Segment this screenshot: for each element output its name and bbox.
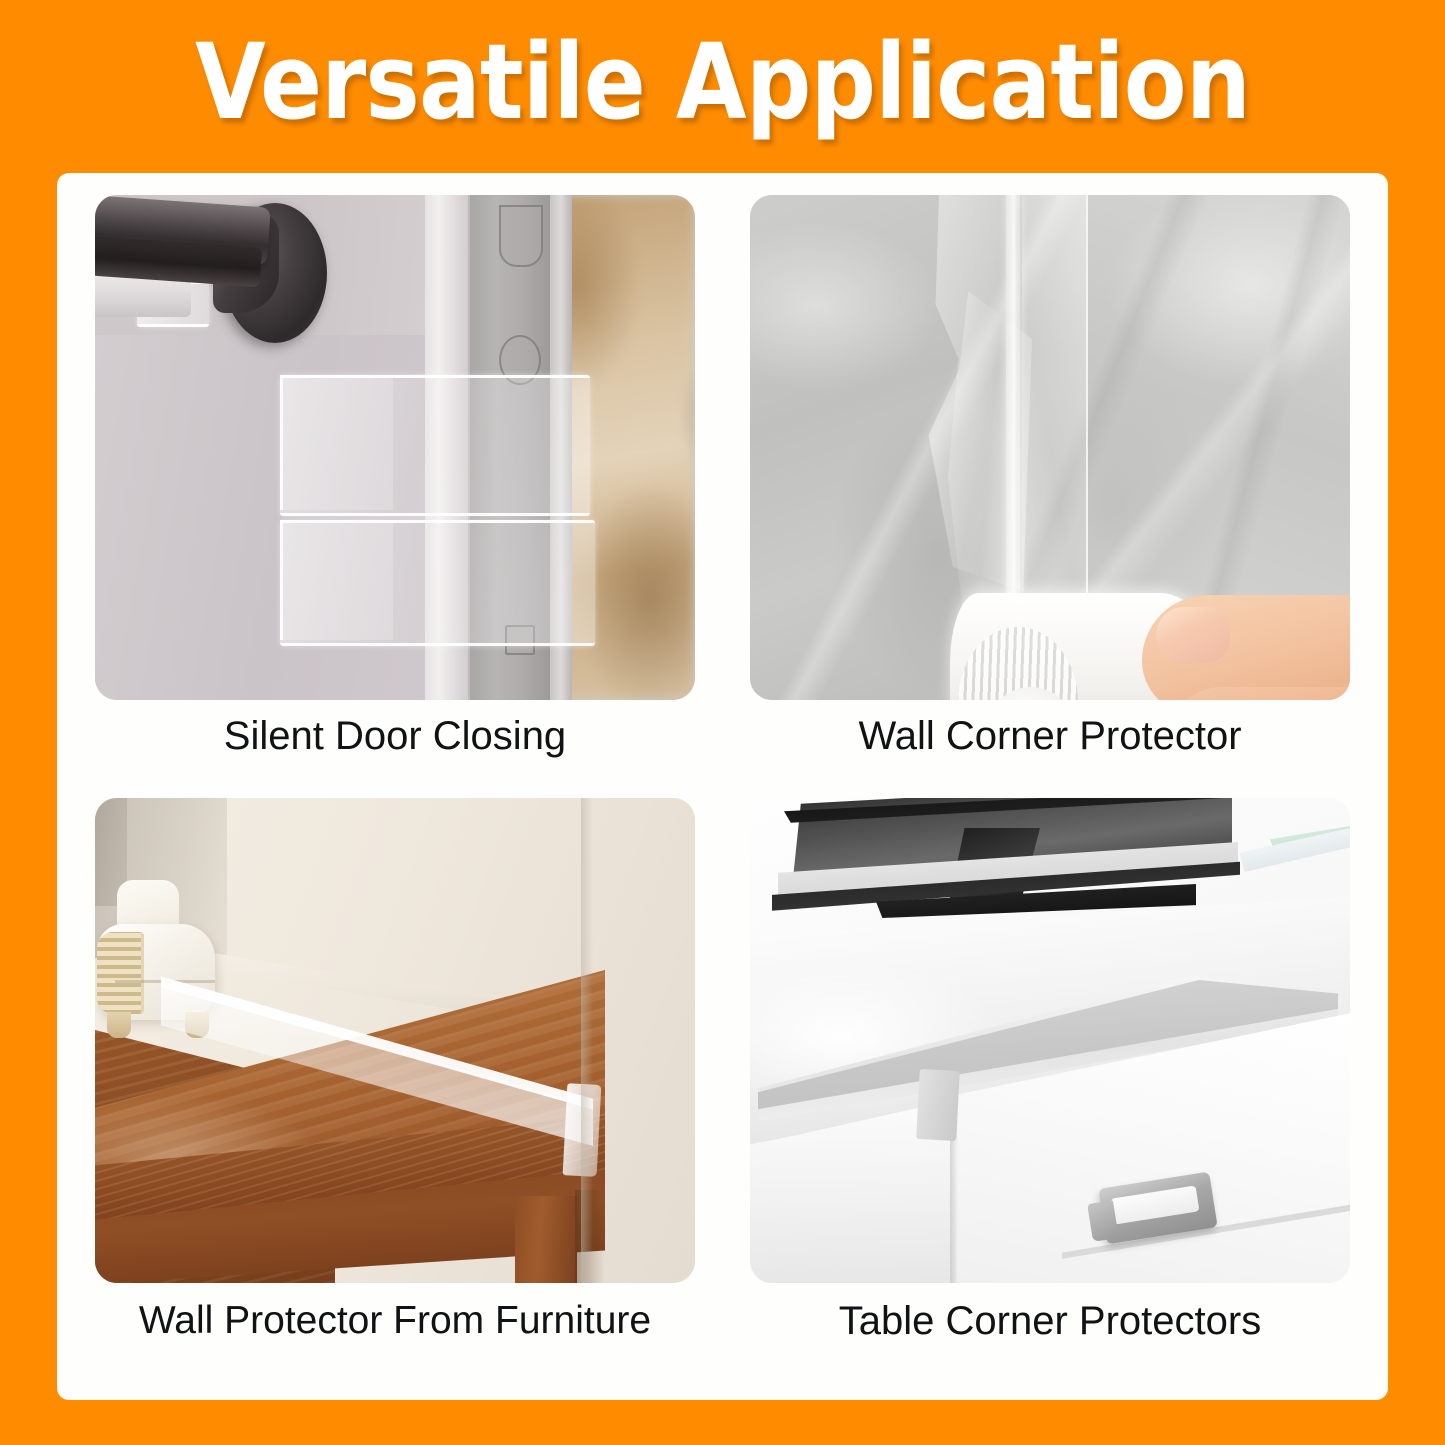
photo-silent-door-closing: [95, 195, 695, 700]
fingernail: [1156, 607, 1230, 663]
corner-protector-face: [280, 375, 393, 510]
table-leg: [515, 1196, 577, 1283]
edge-protector-strip-end-cap: [916, 1069, 960, 1141]
photo-wall-protector-from-furniture: [95, 798, 695, 1283]
corner-protector-face: [280, 520, 393, 640]
wall-edge-shadow: [581, 798, 593, 1283]
caption-wall-protector-from-furniture: Wall Protector From Furniture: [95, 1295, 695, 1347]
page-title: Versatile Application: [87, 26, 1359, 138]
caption-silent-door-closing: Silent Door Closing: [95, 710, 695, 762]
feature-cell-table-corner-protectors: Table Corner Protectors: [750, 798, 1350, 1378]
feature-cell-silent-door-closing: Silent Door Closing: [95, 195, 695, 780]
speaker-grille: [97, 932, 144, 1014]
speaker-leg: [107, 1012, 131, 1038]
feature-cell-wall-protector-from-furniture: Wall Protector From Furniture: [95, 798, 695, 1378]
panel-card: Silent Door Closing Wall Corner Protec: [57, 173, 1388, 1400]
feature-cell-wall-corner-protector: Wall Corner Protector: [750, 195, 1350, 780]
caption-wall-corner-protector: Wall Corner Protector: [750, 710, 1350, 762]
photo-wall-corner-protector: [750, 195, 1350, 700]
latch-slot: [499, 205, 543, 267]
versatile-application-infographic: Versatile Application: [0, 0, 1445, 1445]
caption-table-corner-protectors: Table Corner Protectors: [750, 1295, 1350, 1347]
photo-table-corner-protectors: [750, 798, 1350, 1283]
